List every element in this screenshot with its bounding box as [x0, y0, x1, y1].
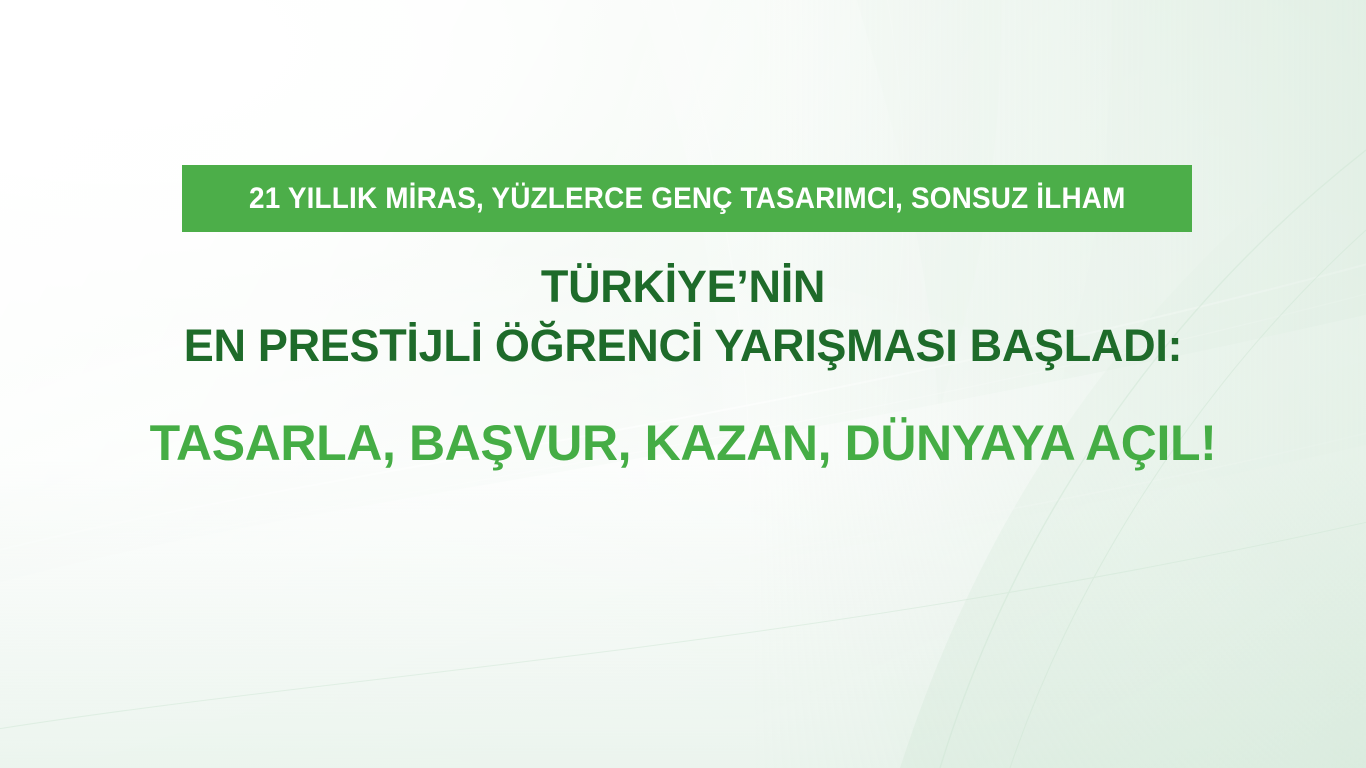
headline-line-1: TÜRKİYE’NİN	[0, 262, 1366, 312]
poster-canvas: 21 YILLIK MİRAS, YÜZLERCE GENÇ TASARIMCI…	[0, 0, 1366, 768]
eyebrow-banner: 21 YILLIK MİRAS, YÜZLERCE GENÇ TASARIMCI…	[182, 165, 1192, 232]
headline-line-2: EN PRESTİJLİ ÖĞRENCİ YARIŞMASI BAŞLADI:	[0, 321, 1366, 371]
call-to-action-text: TASARLA, BAŞVUR, KAZAN, DÜNYAYA AÇIL!	[0, 416, 1366, 471]
page-title: TÜRKİYE’NİN EN PRESTİJLİ ÖĞRENCİ YARIŞMA…	[0, 262, 1366, 372]
poster-content: 21 YILLIK MİRAS, YÜZLERCE GENÇ TASARIMCI…	[0, 0, 1366, 768]
eyebrow-text: 21 YILLIK MİRAS, YÜZLERCE GENÇ TASARIMCI…	[249, 184, 1126, 214]
